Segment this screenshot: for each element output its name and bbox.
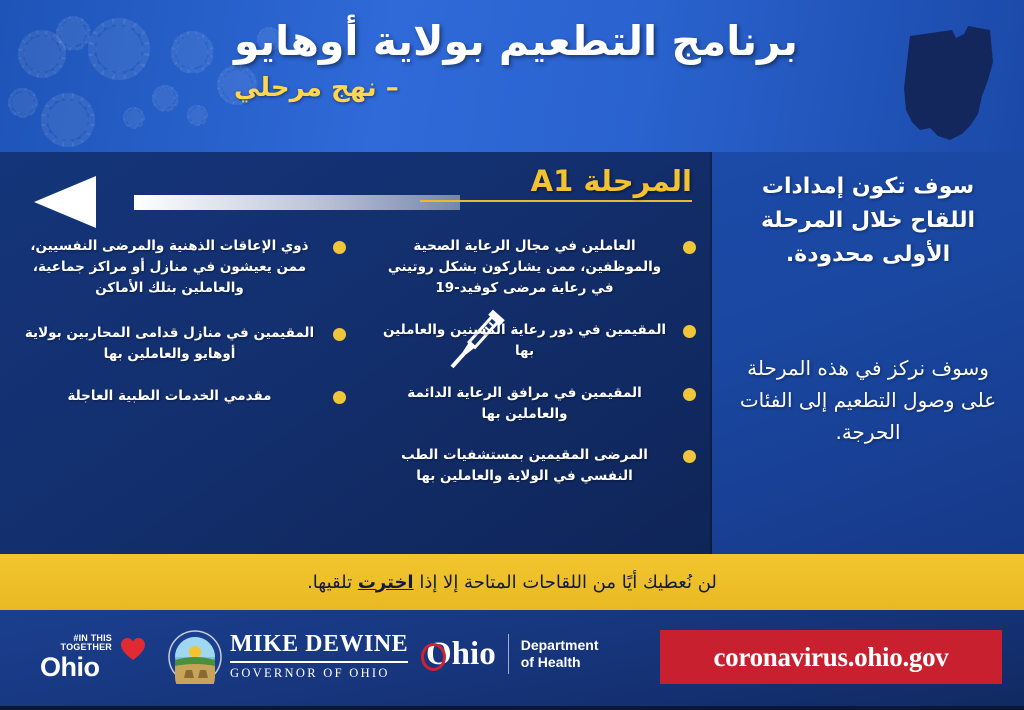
phase-heading-group: المرحلة A1 (392, 164, 692, 202)
ohio-department-of-health-logo: Ohio Department of Health (424, 634, 599, 674)
bullet-dot-icon (683, 388, 696, 401)
website-url-badge[interactable]: coronavirus.ohio.gov (660, 630, 1002, 684)
consent-suffix: تلقيها. (307, 572, 358, 593)
governor-logo: MIKE DEWINE GOVERNOR OF OHIO (230, 632, 408, 680)
list-item-label: مقدمي الخدمات الطبية العاجلة (16, 386, 323, 407)
list-item: المقيمين في مرافق الرعاية الدائمة والعام… (376, 383, 696, 425)
consent-prefix: لن نُعطيك أيًا من اللقاحات المتاحة إلا إ… (414, 572, 717, 593)
virus-icon (176, 36, 208, 68)
in-this-together-ohio-logo: #IN THIS TOGETHER Ohio (40, 634, 150, 686)
page-title: برنامج التطعيم بولاية أوهايو (234, 16, 874, 67)
odh-department-line1: Department (521, 637, 599, 655)
odh-separator (508, 634, 509, 674)
bullet-dot-icon (333, 241, 346, 254)
virus-icon (12, 92, 34, 114)
consent-emphasis: اخترت (358, 572, 414, 593)
phase-underline (420, 200, 692, 202)
governor-name: MIKE DEWINE (230, 632, 408, 656)
virus-icon (24, 36, 60, 72)
poster-body: المرحلة A1 العاملين في مجال الرعاية الصح… (0, 152, 1024, 554)
virus-icon (48, 100, 88, 140)
bullet-dot-icon (683, 241, 696, 254)
governor-rule (230, 661, 408, 663)
poster-root: برنامج التطعيم بولاية أوهايو – نهج مرحلي (0, 0, 1024, 710)
virus-icon (190, 108, 205, 123)
virus-icon (126, 110, 142, 126)
poster-header: برنامج التطعيم بولاية أوهايو – نهج مرحلي (0, 0, 1024, 152)
list-item-label: العاملين في مجال الرعاية الصحية والموظفي… (376, 236, 673, 299)
heart-icon (120, 637, 146, 661)
list-item-label: المقيمين في منازل قدامى المحاربين بولاية… (16, 323, 323, 365)
list-item-label: المقيمين في دور رعاية المسنين والعاملين … (376, 320, 673, 362)
sidebar-panel: سوف تكون إمدادات اللقاح خلال المرحلة الأ… (712, 152, 1024, 554)
consent-banner-text: لن نُعطيك أيًا من اللقاحات المتاحة إلا إ… (307, 572, 717, 593)
bullet-dot-icon (333, 328, 346, 341)
odh-red-oval-icon (421, 643, 446, 671)
phase-title: المرحلة A1 (392, 164, 692, 198)
page-subtitle: – نهج مرحلي (234, 73, 874, 103)
sidebar-focus-note: وسوف نركز في هذه المرحلة على وصول التطعي… (730, 352, 1006, 448)
ohio-state-seal-icon (168, 630, 222, 684)
virus-icon (155, 88, 175, 108)
virus-icon (60, 20, 86, 46)
ohio-state-map-icon (894, 18, 1002, 148)
list-item: مقدمي الخدمات الطبية العاجلة (16, 386, 346, 407)
list-item: المقيمين في منازل قدامى المحاربين بولاية… (16, 323, 346, 365)
bullet-dot-icon (683, 325, 696, 338)
odh-department-label: Department of Health (521, 637, 599, 672)
consent-banner: لن نُعطيك أيًا من اللقاحات المتاحة إلا إ… (0, 554, 1024, 610)
list-item-label: المقيمين في مرافق الرعاية الدائمة والعام… (376, 383, 673, 425)
sidebar-supply-note: سوف تكون إمدادات اللقاح خلال المرحلة الأ… (730, 170, 1006, 272)
phase-bullet-column-left: ذوي الإعاقات الذهنية والمرضى النفسيين، م… (16, 236, 346, 428)
header-title-group: برنامج التطعيم بولاية أوهايو – نهج مرحلي (234, 16, 874, 103)
website-url-text[interactable]: coronavirus.ohio.gov (713, 642, 948, 673)
governor-role: GOVERNOR OF OHIO (230, 667, 408, 680)
virus-icon (96, 26, 142, 72)
bullet-dot-icon (333, 391, 346, 404)
arrow-head (34, 176, 96, 228)
list-item-label: المرضى المقيمين بمستشفيات الطب النفسي في… (376, 445, 673, 487)
list-item: المقيمين في دور رعاية المسنين والعاملين … (376, 320, 696, 362)
list-item: ذوي الإعاقات الذهنية والمرضى النفسيين، م… (16, 236, 346, 299)
odh-department-line2: of Health (521, 654, 599, 672)
list-item-label: ذوي الإعاقات الذهنية والمرضى النفسيين، م… (16, 236, 323, 299)
odh-wordmark: Ohio (424, 638, 496, 671)
list-item: المرضى المقيمين بمستشفيات الطب النفسي في… (376, 445, 696, 487)
list-item: العاملين في مجال الرعاية الصحية والموظفي… (376, 236, 696, 299)
bullet-dot-icon (683, 450, 696, 463)
phase-panel: المرحلة A1 العاملين في مجال الرعاية الصح… (0, 152, 712, 554)
phase-bullet-column-right: العاملين في مجال الرعاية الصحية والموظفي… (376, 236, 696, 508)
